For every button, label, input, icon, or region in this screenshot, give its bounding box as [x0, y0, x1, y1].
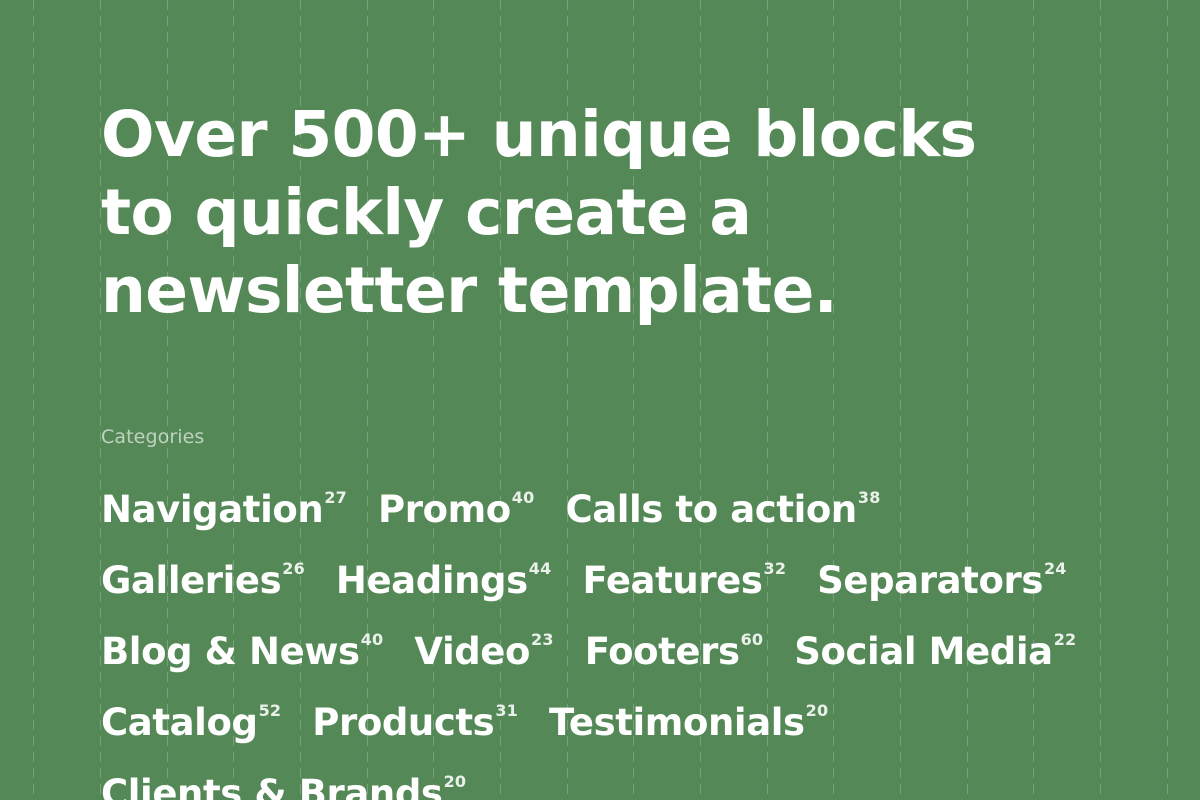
category-name: Footers: [585, 616, 740, 687]
category-link-galleries[interactable]: Galleries26: [101, 545, 305, 616]
category-count-badge: 31: [495, 703, 518, 719]
category-link-features[interactable]: Features32: [582, 545, 786, 616]
categories-label: Categories: [101, 425, 1160, 449]
category-link-headings[interactable]: Headings44: [336, 545, 552, 616]
category-link-navigation[interactable]: Navigation27: [101, 474, 347, 545]
category-count-badge: 38: [858, 490, 881, 506]
category-count-badge: 20: [806, 703, 829, 719]
category-count-badge: 44: [529, 561, 552, 577]
category-link-testimonials[interactable]: Testimonials20: [549, 687, 828, 758]
category-count-badge: 26: [282, 561, 305, 577]
category-name: Calls to action: [565, 474, 856, 545]
category-count-badge: 24: [1044, 561, 1067, 577]
category-name: Blog & News: [101, 616, 360, 687]
category-name: Video: [414, 616, 530, 687]
category-name: Testimonials: [549, 687, 805, 758]
category-link-calls-to-action[interactable]: Calls to action38: [565, 474, 880, 545]
category-count-badge: 23: [531, 632, 554, 648]
category-link-video[interactable]: Video23: [414, 616, 553, 687]
category-count-badge: 32: [763, 561, 786, 577]
category-name: Headings: [336, 545, 528, 616]
category-link-catalog[interactable]: Catalog52: [101, 687, 281, 758]
category-name: Galleries: [101, 545, 281, 616]
category-count-badge: 20: [444, 774, 467, 790]
category-name: Social Media: [794, 616, 1052, 687]
page-container: Over 500+ unique blocks to quickly creat…: [0, 0, 1200, 800]
category-count-badge: 60: [741, 632, 764, 648]
category-count-badge: 22: [1054, 632, 1077, 648]
category-name: Promo: [378, 474, 511, 545]
category-link-social-media[interactable]: Social Media22: [794, 616, 1076, 687]
category-link-footers[interactable]: Footers60: [585, 616, 764, 687]
page-title: Over 500+ unique blocks to quickly creat…: [101, 96, 1001, 330]
category-name: Clients & Brands: [101, 758, 443, 800]
category-count-badge: 40: [512, 490, 535, 506]
categories-list: Navigation27Promo40Calls to action38Gall…: [101, 474, 1111, 800]
categories-section: Categories Navigation27Promo40Calls to a…: [101, 425, 1160, 800]
category-name: Products: [312, 687, 494, 758]
hero-section: Over 500+ unique blocks to quickly creat…: [101, 0, 1160, 330]
category-name: Catalog: [101, 687, 258, 758]
category-name: Separators: [817, 545, 1043, 616]
category-count-badge: 40: [361, 632, 384, 648]
category-link-blog-news[interactable]: Blog & News40: [101, 616, 383, 687]
category-count-badge: 27: [324, 490, 347, 506]
category-link-products[interactable]: Products31: [312, 687, 518, 758]
category-name: Navigation: [101, 474, 323, 545]
category-name: Features: [582, 545, 762, 616]
category-link-separators[interactable]: Separators24: [817, 545, 1066, 616]
category-link-promo[interactable]: Promo40: [378, 474, 534, 545]
category-link-clients-brands[interactable]: Clients & Brands20: [101, 758, 466, 800]
category-count-badge: 52: [259, 703, 282, 719]
